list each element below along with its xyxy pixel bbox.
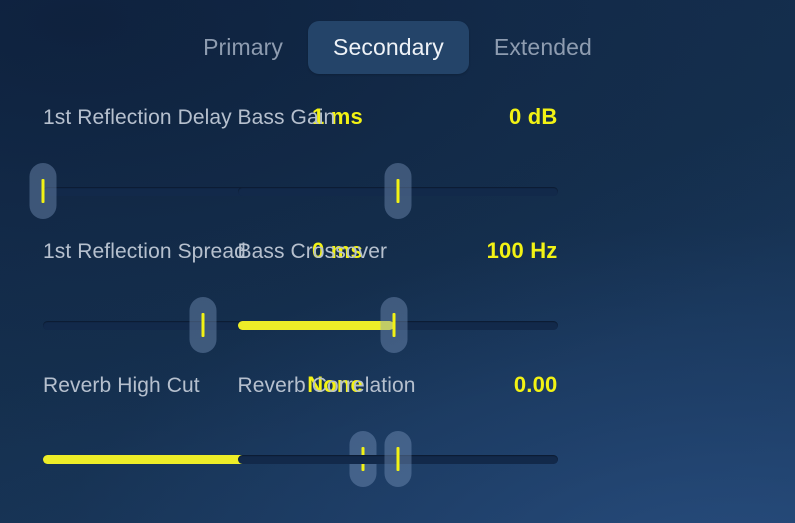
control-value: 0.00	[514, 372, 558, 398]
slider-thumb[interactable]	[30, 163, 57, 219]
slider-grid: 1st Reflection Delay 1 ms Bass Gain	[0, 104, 795, 506]
control-label: Reverb Correlation	[238, 374, 416, 398]
slider-thumb[interactable]	[384, 431, 411, 487]
control-label: Bass Gain	[238, 106, 336, 130]
slider-row: 1st Reflection Spread 0 ms Bass Cro	[0, 238, 795, 372]
control-value: 0 dB	[509, 104, 557, 130]
slider-fill	[238, 321, 395, 330]
settings-panel: Primary Secondary Extended 1st Reflectio…	[0, 0, 795, 523]
slider-row: 1st Reflection Delay 1 ms Bass Gain	[0, 104, 795, 238]
slider[interactable]	[238, 163, 558, 219]
slider[interactable]	[238, 297, 558, 353]
slider-thumb[interactable]	[381, 297, 408, 353]
control-bass-gain: Bass Gain 0 dB	[204, 104, 795, 238]
control-1st-reflection-spread: 1st Reflection Spread 0 ms	[0, 238, 204, 372]
tab-primary-label: Primary	[203, 34, 283, 60]
control-bass-crossover: Bass Crossover 100 Hz	[204, 238, 795, 372]
slider-row: Reverb High Cut None Reverb Correla	[0, 372, 795, 506]
control-reverb-correlation: Reverb Correlation 0.00	[204, 372, 795, 506]
tab-secondary[interactable]: Secondary	[308, 21, 469, 74]
control-1st-reflection-delay: 1st Reflection Delay 1 ms	[0, 104, 204, 238]
control-value: 100 Hz	[487, 238, 558, 264]
tab-extended[interactable]: Extended	[469, 21, 617, 74]
slider-thumb[interactable]	[384, 163, 411, 219]
tab-bar: Primary Secondary Extended	[0, 19, 795, 75]
tab-secondary-label: Secondary	[333, 34, 444, 60]
tab-extended-label: Extended	[494, 34, 592, 60]
control-label: Bass Crossover	[238, 240, 388, 264]
slider[interactable]	[238, 431, 558, 487]
control-label: Reverb High Cut	[43, 374, 200, 398]
tab-primary[interactable]: Primary	[178, 21, 308, 74]
control-reverb-high-cut: Reverb High Cut None	[0, 372, 204, 506]
